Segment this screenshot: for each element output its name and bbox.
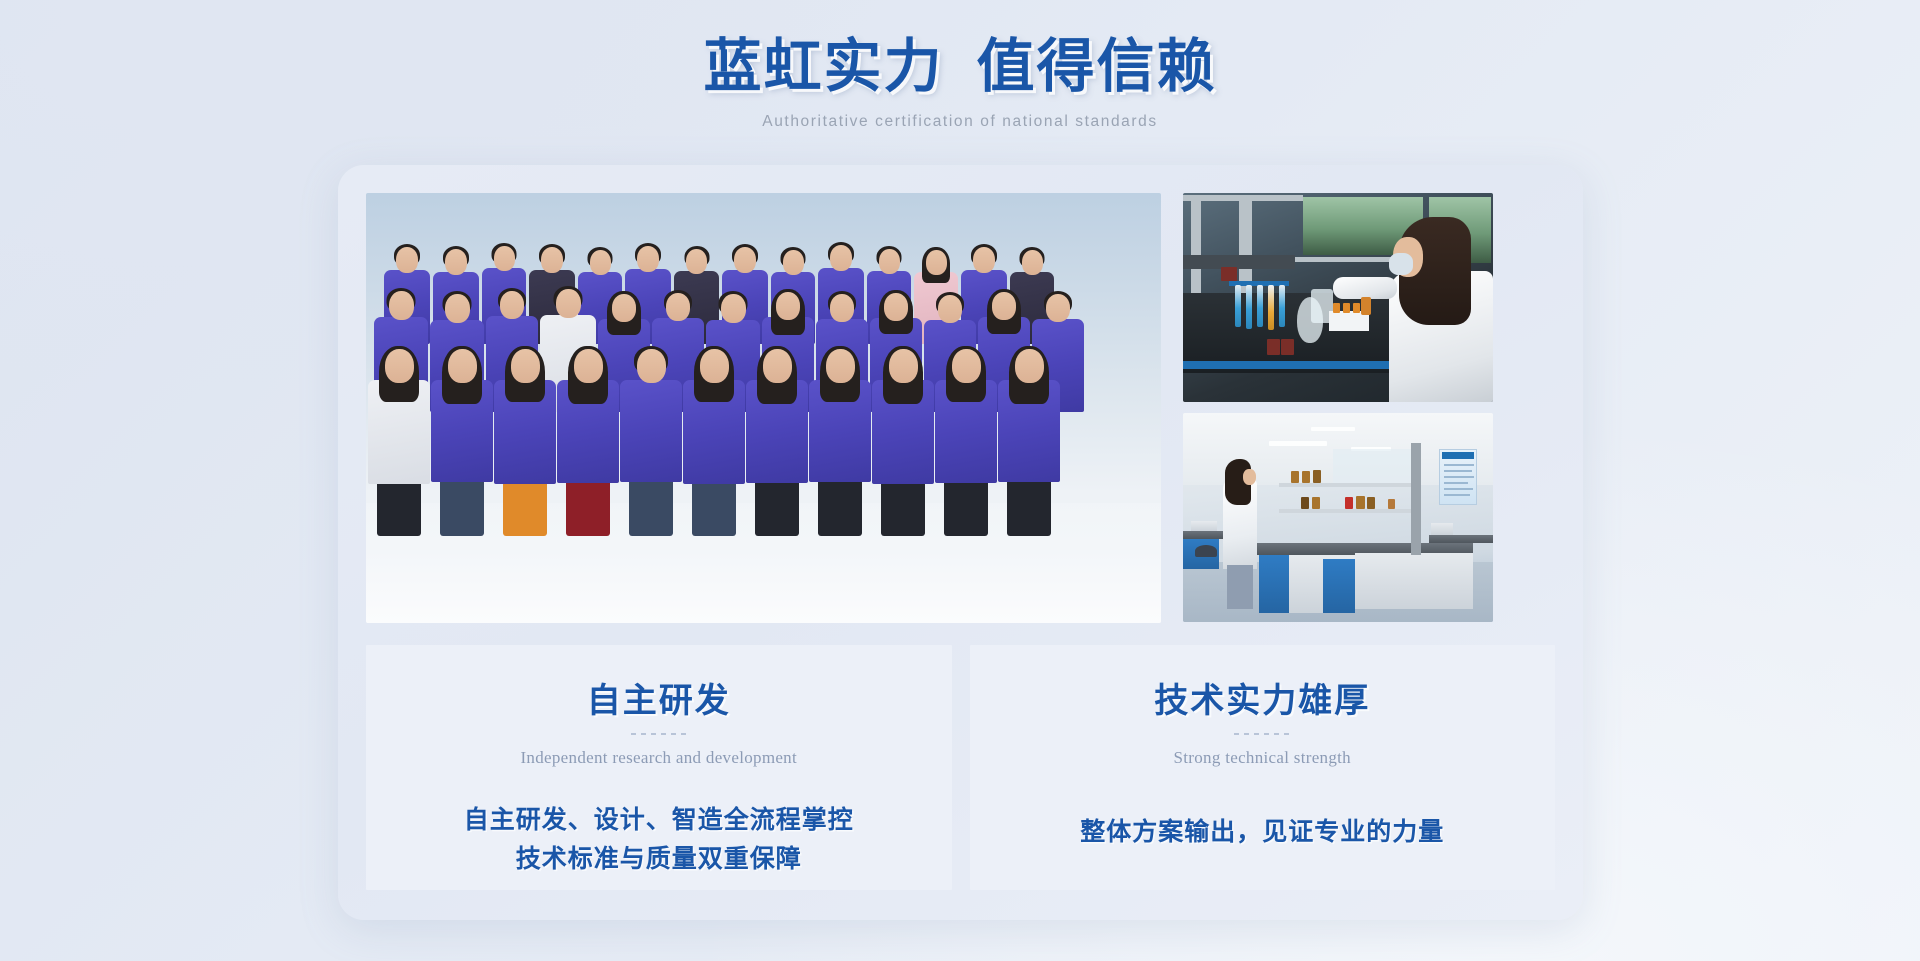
card-body: 整体方案输出，见证专业的力量 xyxy=(990,814,1536,853)
card-body-line2: 技术标准与质量双重保障 xyxy=(386,841,932,880)
card-subtitle: Independent research and development xyxy=(386,748,932,768)
media-gallery xyxy=(366,193,1555,623)
card-body-line1: 整体方案输出，见证专业的力量 xyxy=(1080,819,1444,846)
card-body-line1: 自主研发、设计、智造全流程掌控 xyxy=(464,807,854,834)
page-header: 蓝虹实力 值得信赖 Authoritative certification of… xyxy=(0,0,1920,131)
team-group-photo[interactable] xyxy=(366,193,1161,623)
page-subtitle: Authoritative certification of national … xyxy=(0,113,1920,131)
lab-room-photo[interactable] xyxy=(1183,413,1493,622)
content-panel: 自主研发 Independent research and developmen… xyxy=(338,165,1583,920)
dashed-divider-icon xyxy=(631,733,687,735)
side-photo-column xyxy=(1183,193,1493,623)
feature-cards: 自主研发 Independent research and developmen… xyxy=(366,645,1555,890)
card-body: 自主研发、设计、智造全流程掌控 技术标准与质量双重保障 xyxy=(386,802,932,880)
card-subtitle: Strong technical strength xyxy=(990,748,1536,768)
page-title: 蓝虹实力 值得信赖 xyxy=(0,34,1920,101)
card-title: 技术实力雄厚 xyxy=(990,673,1536,722)
group-row-front xyxy=(368,349,1060,536)
card-title: 自主研发 xyxy=(386,673,932,722)
lab-bench-photo[interactable] xyxy=(1183,193,1493,402)
feature-card-independent-rd[interactable]: 自主研发 Independent research and developmen… xyxy=(366,645,952,890)
feature-card-technical-strength[interactable]: 技术实力雄厚 Strong technical strength 整体方案输出，… xyxy=(970,645,1556,890)
dashed-divider-icon xyxy=(1234,733,1290,735)
